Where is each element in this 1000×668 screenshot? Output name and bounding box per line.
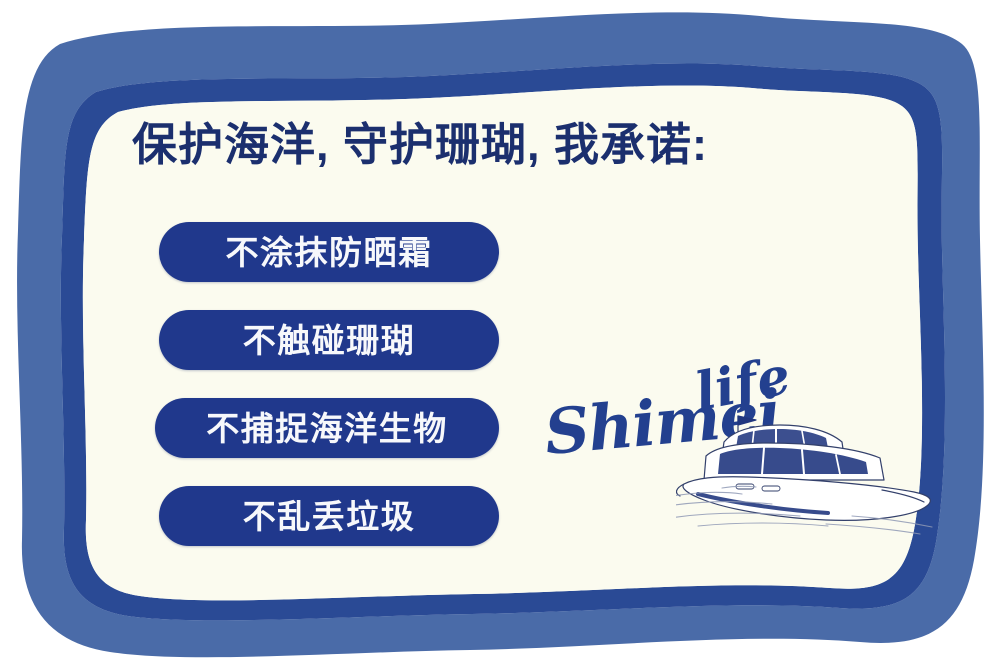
page-title: 保护海洋, 守护珊瑚, 我承诺: [132,121,708,168]
poster-canvas: 保护海洋, 守护珊瑚, 我承诺: 不涂抹防晒霜 不触碰珊瑚 不捕捉海洋生物 不乱… [0,0,1000,668]
pledge-item[interactable]: 不涂抹防晒霜 [159,222,499,282]
pledge-item[interactable]: 不捕捉海洋生物 [155,398,499,458]
pledge-label: 不涂抹防晒霜 [226,236,433,269]
pledge-item[interactable]: 不乱丢垃圾 [159,486,499,546]
pledge-item[interactable]: 不触碰珊瑚 [159,310,499,370]
pledge-label: 不乱丢垃圾 [243,500,416,533]
pledge-label: 不捕捉海洋生物 [206,412,448,445]
pledge-label: 不触碰珊瑚 [243,324,416,357]
pledge-list: 不涂抹防晒霜 不触碰珊瑚 不捕捉海洋生物 不乱丢垃圾 [155,222,505,546]
yacht-icon [676,398,946,538]
